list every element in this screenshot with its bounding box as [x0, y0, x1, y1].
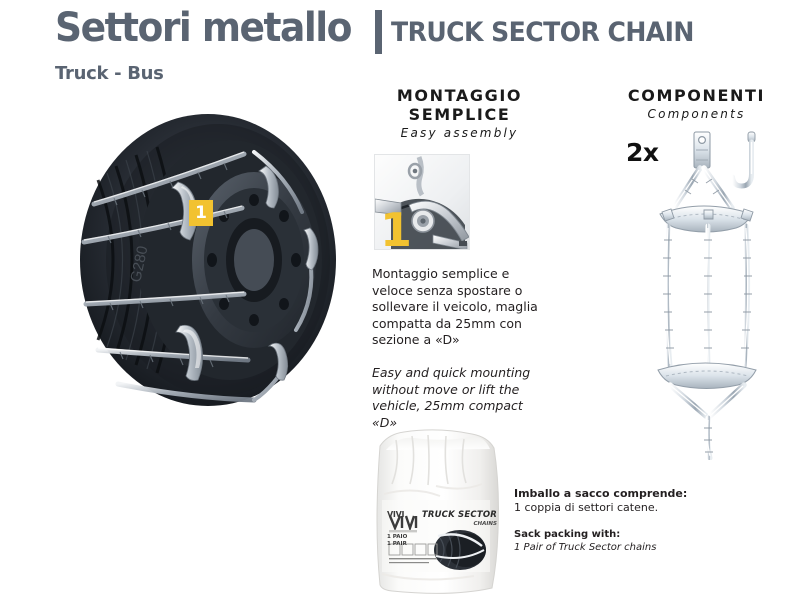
sack-brand-text: VIVI: [387, 510, 404, 519]
packing-spacer: [514, 515, 744, 528]
page-title: Settori metallo: [55, 6, 351, 50]
assembly-photo: 1: [374, 154, 470, 250]
sack-product-line1: TRUCK SECTOR: [422, 510, 497, 520]
components-heading-it: COMPONENTI: [604, 86, 789, 105]
assembly-heading-line1: MONTAGGIO: [372, 86, 547, 105]
sack-qty-en: 1 PAIR: [387, 541, 497, 548]
assembly-text-block: Montaggio semplice e veloce senza sposta…: [372, 266, 542, 431]
assembly-heading: MONTAGGIO SEMPLICE Easy assembly: [372, 86, 547, 142]
components-column: COMPONENTI Components 2x: [604, 86, 789, 123]
packing-body-it: 1 coppia di settori catene.: [514, 501, 744, 515]
assembly-text-en: Easy and quick mounting without move or …: [372, 365, 542, 431]
components-heading: COMPONENTI Components: [604, 86, 789, 123]
assembly-heading-line2: SEMPLICE: [372, 105, 547, 124]
packing-heading-it: Imballo a sacco comprende:: [514, 487, 744, 501]
packing-body-en: 1 Pair of Truck Sector chains: [514, 541, 744, 554]
sector-chain-assembly-svg: [644, 130, 784, 460]
assembly-step-number: 1: [380, 207, 410, 250]
assembly-text-it: Montaggio semplice e veloce senza sposta…: [372, 266, 542, 349]
title-divider: [375, 10, 382, 54]
sack-qty-it: 1 PAIO: [387, 534, 497, 541]
packing-text-block: Imballo a sacco comprende: 1 coppia di s…: [514, 487, 744, 554]
tire-product-image: G280: [58, 108, 368, 413]
assembly-column: MONTAGGIO SEMPLICE Easy assembly: [372, 86, 547, 431]
tire-step-badge: 1: [189, 200, 213, 226]
component-illustration: [644, 130, 784, 460]
page-header: Settori metallo TRUCK SECTOR CHAIN Truck…: [55, 6, 755, 86]
components-heading-en: Components: [604, 106, 789, 123]
packing-heading-en: Sack packing with:: [514, 528, 744, 541]
segment-label: Truck - Bus: [55, 63, 755, 84]
sack-packaging-image: VIVI TRUCK SECTOR CHAINS 1 PAIO 1 PAIR: [366, 424, 511, 599]
sack-product-line2: CHAINS: [387, 521, 497, 527]
sack-label: VIVI TRUCK SECTOR CHAINS 1 PAIO 1 PAIR: [387, 510, 497, 548]
tire-illustration: G280: [58, 108, 368, 413]
title-row: Settori metallo TRUCK SECTOR CHAIN: [55, 6, 755, 54]
page-subtitle-en: TRUCK SECTOR CHAIN: [391, 17, 694, 48]
assembly-heading-en: Easy assembly: [372, 125, 547, 142]
